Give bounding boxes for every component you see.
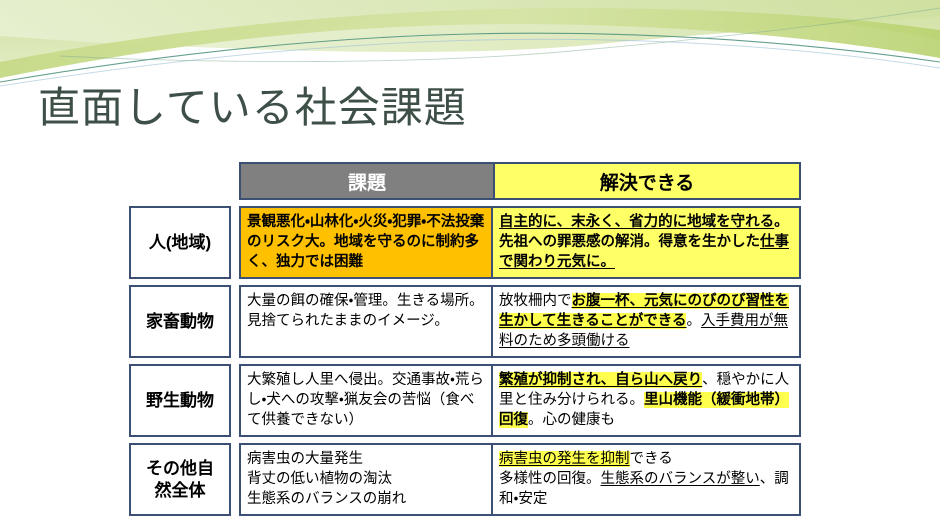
- text-run: 自主的に、末永く、省力的に地域を守れる: [499, 214, 774, 230]
- cell-solution-1: 自主的に、末永く、省力的に地域を守れる。先祖への罪悪感の解消。得意を生かした仕事…: [493, 206, 801, 279]
- cell-solution-4: 病害虫の発生を抑制できる多様性の回復。生態系のバランスが整い、調和・安定: [493, 443, 801, 516]
- text-run: 大繁殖し人里へ侵出。交通事故・荒らし・犬への攻撃・猟友会の苦悩（食べて供養できな…: [247, 372, 484, 428]
- cell-problem-3: 大繁殖し人里へ侵出。交通事故・荒らし・犬への攻撃・猟友会の苦悩（食べて供養できな…: [239, 364, 493, 437]
- text-run: 病害虫の大量発生背丈の低い植物の淘汰生態系のバランスの崩れ: [247, 451, 406, 507]
- text-run: 。: [686, 313, 701, 329]
- text-run: 病害虫の発生を抑制: [499, 451, 630, 467]
- row-label-2: 家畜動物: [129, 285, 231, 358]
- cell-problem-4: 病害虫の大量発生背丈の低い植物の淘汰生態系のバランスの崩れ: [239, 443, 493, 516]
- table-row: 人(地域)景観悪化・山林化・火災・犯罪・不法投棄のリスク大。地域を守るのに制約多…: [129, 206, 801, 279]
- row-label-3: 野生動物: [129, 364, 231, 437]
- issues-table: 課題 解決できる 人(地域)景観悪化・山林化・火災・犯罪・不法投棄のリスク大。地…: [129, 162, 801, 516]
- cell-problem-2: 大量の餌の確保・管理。生きる場所。見捨てられたままのイメージ。: [239, 285, 493, 358]
- text-run: 大量の餌の確保・管理。生きる場所。見捨てられたままのイメージ。: [247, 293, 484, 329]
- table-body: 人(地域)景観悪化・山林化・火災・犯罪・不法投棄のリスク大。地域を守るのに制約多…: [129, 206, 801, 516]
- table-row: その他自 然全体病害虫の大量発生背丈の低い植物の淘汰生態系のバランスの崩れ病害虫…: [129, 443, 801, 516]
- table-row: 野生動物大繁殖し人里へ侵出。交通事故・荒らし・犬への攻撃・猟友会の苦悩（食べて供…: [129, 364, 801, 437]
- text-run: 。心の健康も: [528, 412, 615, 428]
- table-row: 家畜動物大量の餌の確保・管理。生きる場所。見捨てられたままのイメージ。放牧柵内で…: [129, 285, 801, 358]
- slide: 直面している社会課題 課題 解決できる 人(地域)景観悪化・山林化・火災・犯罪・…: [0, 0, 940, 525]
- column-header-problem: 課題: [239, 162, 493, 200]
- column-header-solution: 解決できる: [493, 162, 801, 200]
- decorative-banner-swoosh: [0, 0, 940, 90]
- page-title: 直面している社会課題: [38, 82, 467, 134]
- table-header-row: 課題 解決できる: [239, 162, 801, 200]
- cell-solution-2: 放牧柵内でお腹一杯、元気にのびのび習性を生かして生きることができる。入手費用が無…: [493, 285, 801, 358]
- text-run: 生態系のバランスが整い: [601, 471, 760, 487]
- row-label-4: その他自 然全体: [129, 443, 231, 516]
- text-run: 放牧柵内で: [499, 293, 572, 309]
- text-run: 景観悪化・山林化・火災・犯罪・不法投棄のリスク大。地域を守るのに制約多く、独力で…: [247, 214, 484, 270]
- row-label-1: 人(地域): [129, 206, 231, 279]
- cell-problem-1: 景観悪化・山林化・火災・犯罪・不法投棄のリスク大。地域を守るのに制約多く、独力で…: [239, 206, 493, 279]
- cell-solution-3: 繁殖が抑制され、自ら山へ戻り、穏やかに人里と住み分けられる。里山機能（緩衝地帯）…: [493, 364, 801, 437]
- text-run: 繁殖が抑制され、自ら山へ戻り: [499, 372, 702, 388]
